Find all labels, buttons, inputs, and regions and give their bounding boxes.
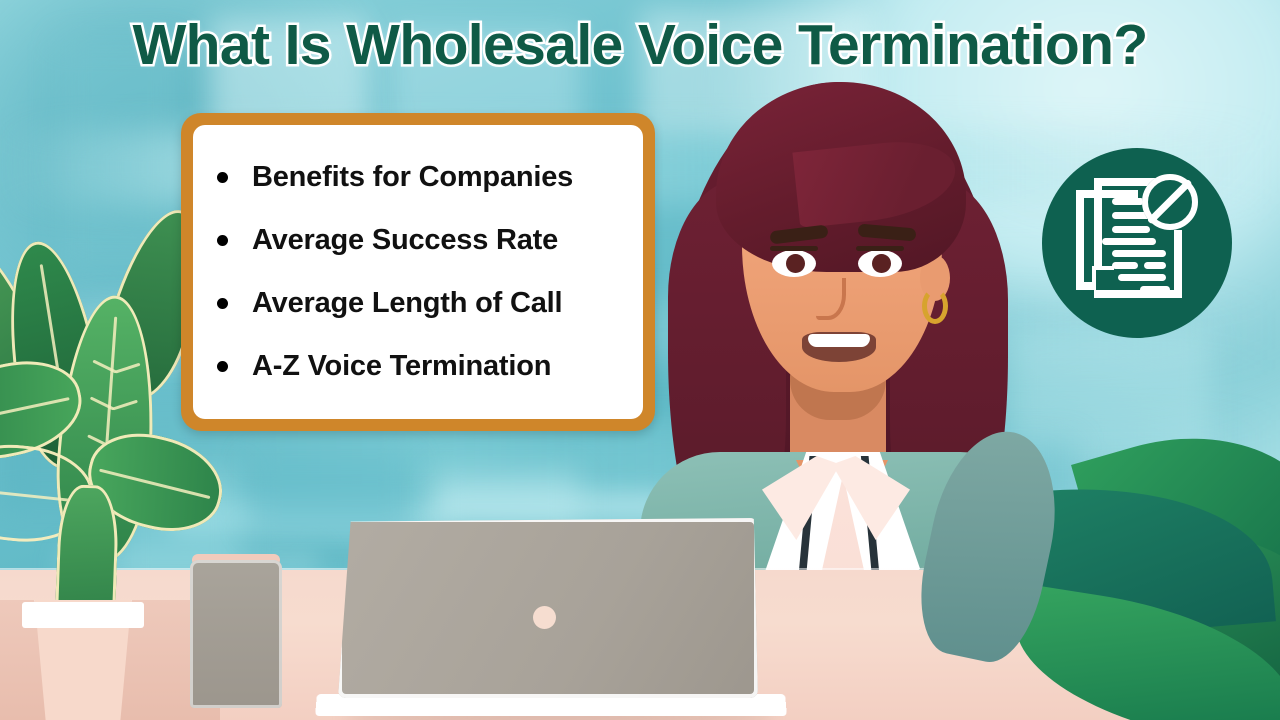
teeth [808,334,870,347]
laptop [338,518,758,720]
list-item-label: Average Success Rate [252,224,558,257]
bullet-dot-icon [217,361,228,372]
bullet-card-inner: Benefits for Companies Average Success R… [193,125,643,419]
documents-blocked-badge [1042,148,1232,338]
list-item: Average Success Rate [193,212,643,268]
potted-plant [0,185,202,720]
bullet-dot-icon [217,172,228,183]
hoop-earring [922,288,948,324]
bullet-dot-icon [217,298,228,309]
eyelid-right [856,246,904,251]
page-title: What Is Wholesale Voice Termination? [0,12,1280,78]
bullet-dot-icon [217,235,228,246]
eyelid-left [770,246,818,251]
pupil-left [786,254,805,273]
list-item-label: A-Z Voice Termination [252,350,551,383]
banner-canvas: What Is Wholesale Voice Termination? Ben… [0,0,1280,720]
laptop-logo-icon [533,606,556,629]
list-item: A-Z Voice Termination [193,339,643,395]
plant-pot-rim [22,602,144,628]
list-item-label: Benefits for Companies [252,161,573,194]
desk-notebook [190,560,282,708]
list-item: Benefits for Companies [193,149,643,205]
bullet-card: Benefits for Companies Average Success R… [181,113,655,431]
pupil-right [872,254,891,273]
list-item: Average Length of Call [193,276,643,332]
documents-blocked-icon [1068,172,1208,314]
list-item-label: Average Length of Call [252,287,562,320]
